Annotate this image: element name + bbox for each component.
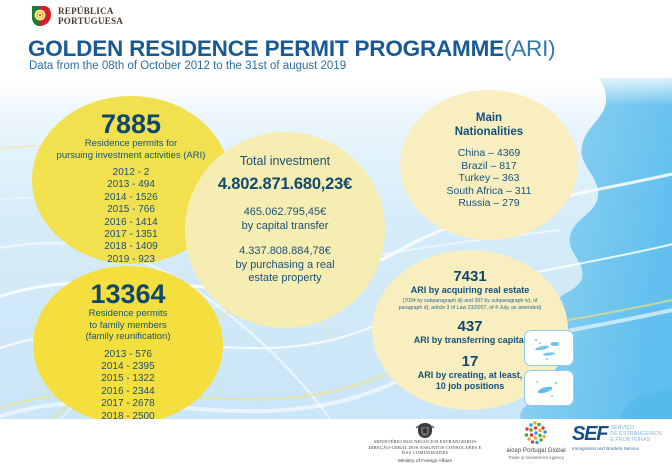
list-item: South Africa – 311 xyxy=(446,185,531,198)
list-item: 2013 - 494 xyxy=(104,179,157,191)
total-investment-amount: 4.802.871.680,23€ xyxy=(218,175,352,194)
aicep-logo: aicep Portugal Global Trade & Investment… xyxy=(500,420,572,460)
sef-subtitle: Immigration and Borders Service xyxy=(572,446,670,451)
sef-full-name-line-3: E FRONTEIRAS xyxy=(610,437,662,443)
total-investment-label: Total investment xyxy=(240,154,330,168)
capital-transfer-block: 465.062.795,45€ by capital transfer xyxy=(242,206,329,233)
ministry-foreign-affairs-logo: MINISTÉRIO DOS NEGÓCIOS ESTRANGEIROS DIR… xyxy=(362,422,488,464)
republica-portuguesa-logo: REPÚBLICA PORTUGUESA xyxy=(30,4,123,28)
family-permits-caption: Residence permits to family members (fam… xyxy=(86,308,171,343)
sef-logo: SEF SERVIÇO DE ESTRANGEIROS E FRONTEIRAS… xyxy=(572,424,670,451)
list-item: 2016 - 1414 xyxy=(104,217,157,229)
real-estate-amount: 4.337.808.884,78€ xyxy=(235,245,334,259)
list-item: 2014 - 1526 xyxy=(104,192,157,204)
family-permits-number: 13364 xyxy=(90,280,165,308)
list-item: 2012 - 2 xyxy=(104,167,157,179)
republica-portuguesa-wordmark: REPÚBLICA PORTUGUESA xyxy=(58,6,123,26)
capital-transfer-amount: 465.062.795,45€ xyxy=(242,206,329,220)
list-item: 2014 - 2395 xyxy=(101,361,154,373)
list-item: 2015 - 766 xyxy=(104,204,157,216)
ari-capital-transfer-block: 437 ARI by transferring capital xyxy=(414,318,527,346)
main-nationalities-title-line-1: Main xyxy=(455,112,523,126)
sef-logo-row: SEF SERVIÇO DE ESTRANGEIROS E FRONTEIRAS xyxy=(572,424,670,444)
ari-job-creation-label-line-1: ARI by creating, at least, xyxy=(418,370,523,381)
page-title-main: GOLDEN RESIDENCE PERMIT PROGRAMME xyxy=(28,36,504,61)
real-estate-block: 4.337.808.884,78€ by purchasing a real e… xyxy=(235,245,334,286)
total-investment-circle: Total investment 4.802.871.680,23€ 465.0… xyxy=(185,132,385,328)
aicep-tagline: Trade & Investment Agency xyxy=(500,455,572,460)
investment-permits-caption-line-1: Residence permits for xyxy=(57,138,206,150)
map-island-icon xyxy=(525,371,573,405)
ministry-name-en: Ministry of Foreign Affairs xyxy=(362,459,488,464)
ari-capital-transfer-label: ARI by transferring capital xyxy=(414,335,527,346)
family-permits-caption-line-3: (family reunification) xyxy=(86,331,171,343)
main-nationalities-title-line-2: Nationalities xyxy=(455,126,523,140)
portugal-crest-icon xyxy=(412,422,438,439)
infographic-canvas: REPÚBLICA PORTUGUESA GOLDEN RESIDENCE PE… xyxy=(0,0,672,467)
list-item: Russia – 279 xyxy=(446,197,531,210)
real-estate-label-line-1: by purchasing a real xyxy=(235,259,334,273)
aicep-globe-icon xyxy=(523,420,549,446)
list-item: Brazil – 817 xyxy=(446,160,531,173)
aicep-name: aicep Portugal Global xyxy=(500,447,572,454)
list-item: 2017 - 2678 xyxy=(101,398,154,410)
page-title-suffix: (ARI) xyxy=(504,36,556,61)
emblem-line-2: PORTUGUESA xyxy=(58,16,123,26)
ari-real-estate-label: ARI by acquiring real estate xyxy=(395,285,545,296)
list-item: 2015 - 1322 xyxy=(101,373,154,385)
madeira-islands-card xyxy=(524,330,574,366)
investment-permits-number: 7885 xyxy=(101,110,161,138)
page-title: GOLDEN RESIDENCE PERMIT PROGRAMME(ARI) xyxy=(28,36,555,62)
ari-job-creation-number: 17 xyxy=(418,353,523,370)
sef-wordmark: SEF xyxy=(572,424,607,444)
list-item: 2019 - 923 xyxy=(104,254,157,266)
main-nationalities-circle: Main Nationalities China – 4369 Brazil –… xyxy=(400,90,578,240)
family-permits-caption-line-1: Residence permits xyxy=(86,308,171,320)
ministry-name-pt: MINISTÉRIO DOS NEGÓCIOS ESTRANGEIROS DIR… xyxy=(362,439,488,456)
list-item: 2013 - 576 xyxy=(101,349,154,361)
family-permits-circle: 13364 Residence permits to family member… xyxy=(33,266,223,424)
list-item: 2016 - 2344 xyxy=(101,386,154,398)
investment-permits-year-list: 2012 - 2 2013 - 494 2014 - 1526 2015 - 7… xyxy=(104,167,157,266)
capital-transfer-label: by capital transfer xyxy=(242,220,329,234)
investment-permits-caption: Residence permits for pursuing investmen… xyxy=(57,138,206,161)
map-islands-icon xyxy=(525,331,573,365)
ari-real-estate-block: 7431 ARI by acquiring real estate (7034 … xyxy=(395,268,545,311)
ari-capital-transfer-number: 437 xyxy=(414,318,527,335)
ministry-name-pt-line-3: DAS COMUNIDADES xyxy=(362,450,488,456)
list-item: 2017 - 1351 xyxy=(104,229,157,241)
page-subtitle: Data from the 08th of October 2012 to th… xyxy=(29,60,346,72)
list-item: China – 4369 xyxy=(446,147,531,160)
family-permits-caption-line-2: to family members xyxy=(86,320,171,332)
main-nationalities-list: China – 4369 Brazil – 817 Turkey – 363 S… xyxy=(446,147,531,210)
real-estate-label-line-2: estate property xyxy=(235,272,334,286)
sef-full-name: SERVIÇO DE ESTRANGEIROS E FRONTEIRAS xyxy=(610,425,662,444)
azores-island-card xyxy=(524,370,574,406)
ari-job-creation-label-line-2: 10 job positions xyxy=(418,381,523,392)
list-item: Turkey – 363 xyxy=(446,172,531,185)
ari-real-estate-number: 7431 xyxy=(395,268,545,285)
investment-permits-caption-line-2: pursuing investment activities (ARI) xyxy=(57,150,206,162)
ari-job-creation-block: 17 ARI by creating, at least, 10 job pos… xyxy=(418,353,523,392)
ari-real-estate-fine-print: (7034 by subparagraph iii) and 397 by su… xyxy=(395,298,545,311)
republica-portuguesa-shield-icon xyxy=(30,4,52,28)
list-item: 2018 - 1409 xyxy=(104,241,157,253)
main-nationalities-title: Main Nationalities xyxy=(455,112,523,139)
ministry-name-pt-line-1: MINISTÉRIO DOS NEGÓCIOS ESTRANGEIROS xyxy=(362,439,488,445)
emblem-line-1: REPÚBLICA xyxy=(58,6,123,16)
